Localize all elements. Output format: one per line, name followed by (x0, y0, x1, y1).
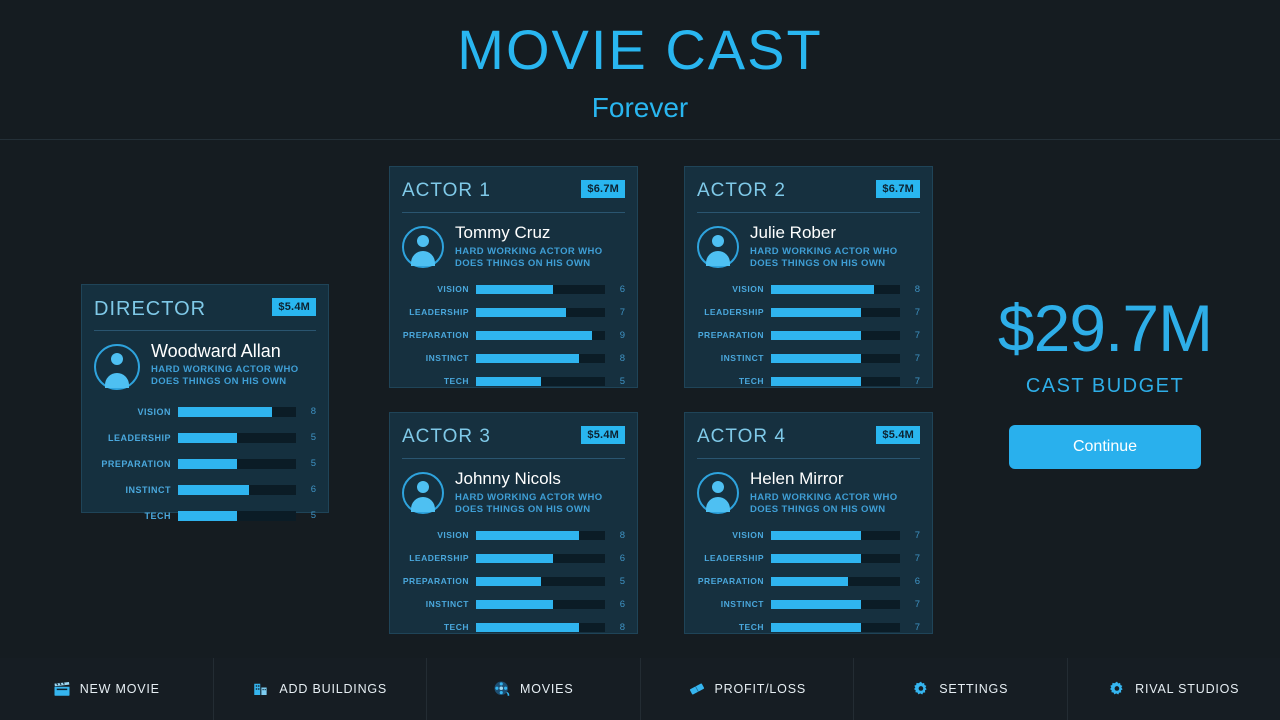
stat-label: PREPARATION (402, 576, 476, 586)
price-badge: $6.7M (581, 180, 625, 198)
stat-label: LEADERSHIP (402, 553, 476, 563)
avatar-body-shape (411, 497, 435, 512)
avatar (94, 344, 140, 390)
stat-row: TECH8 (402, 620, 625, 634)
person-name: Tommy Cruz (455, 223, 603, 243)
person-description-line1: HARD WORKING ACTOR WHO (455, 246, 603, 258)
avatar (402, 226, 444, 268)
card-header: ACTOR 4 $5.4M (697, 423, 920, 459)
stat-label: TECH (402, 622, 476, 632)
card-header: ACTOR 2 $6.7M (697, 177, 920, 213)
stat-row: TECH7 (697, 374, 920, 388)
stat-bar-fill (476, 577, 541, 586)
person-info: Woodward Allan HARD WORKING ACTOR WHO DO… (151, 341, 299, 388)
stat-row: TECH7 (697, 620, 920, 634)
stat-bar-fill (771, 308, 861, 317)
person-name: Johnny Nicols (455, 469, 603, 489)
stat-bar-track (476, 308, 605, 317)
continue-button[interactable]: Continue (1009, 425, 1201, 469)
stat-row: TECH5 (402, 374, 625, 388)
stat-label: PREPARATION (697, 576, 771, 586)
stat-bar-fill (178, 511, 237, 521)
avatar-body-shape (706, 497, 730, 512)
stats-list: VISION6LEADERSHIP7PREPARATION9INSTINCT8T… (402, 282, 625, 388)
stat-bar-fill (771, 577, 848, 586)
avatar-body-shape (706, 251, 730, 266)
stat-value: 5 (605, 376, 625, 387)
stat-bar-track (476, 377, 605, 386)
person-description-line2: DOES THINGS ON HIS OWN (455, 504, 603, 516)
stat-value: 7 (900, 330, 920, 341)
card-header: DIRECTOR $5.4M (94, 295, 316, 331)
stat-row: VISION8 (697, 282, 920, 296)
stat-label: PREPARATION (402, 330, 476, 340)
nav-item-label: PROFIT/LOSS (715, 682, 806, 696)
card-header: ACTOR 1 $6.7M (402, 177, 625, 213)
person-name: Helen Mirror (750, 469, 898, 489)
stat-bar-track (476, 285, 605, 294)
stat-label: INSTINCT (402, 599, 476, 609)
clapperboard-icon (53, 680, 71, 698)
stat-row: LEADERSHIP7 (402, 305, 625, 319)
stat-row: LEADERSHIP6 (402, 551, 625, 565)
stat-bar-track (771, 554, 900, 563)
actor-card-2[interactable]: ACTOR 2 $6.7M Julie Rober HARD WORKING A… (684, 166, 933, 388)
movie-cast-screen: MOVIE CAST Forever DIRECTOR $5.4M Woodwa… (0, 0, 1280, 720)
stat-label: LEADERSHIP (94, 433, 178, 443)
stat-label: TECH (697, 376, 771, 386)
stat-label: INSTINCT (697, 599, 771, 609)
stat-label: LEADERSHIP (402, 307, 476, 317)
film-reel-icon (493, 680, 511, 698)
nav-item-label: NEW MOVIE (80, 682, 160, 696)
stat-bar-fill (771, 285, 874, 294)
stat-value: 6 (605, 599, 625, 610)
stat-value: 7 (900, 376, 920, 387)
nav-item-add-buildings[interactable]: ADD BUILDINGS (214, 658, 428, 720)
stats-list: VISION8LEADERSHIP5PREPARATION5INSTINCT6T… (94, 404, 316, 523)
nav-item-settings[interactable]: SETTINGS (854, 658, 1068, 720)
stat-label: TECH (94, 511, 178, 521)
stat-row: PREPARATION5 (402, 574, 625, 588)
buildings-icon (252, 680, 270, 698)
person-description-line1: HARD WORKING ACTOR WHO (750, 246, 898, 258)
stat-bar-fill (476, 554, 553, 563)
nav-item-profit-loss[interactable]: PROFIT/LOSS (641, 658, 855, 720)
avatar-body-shape (105, 373, 129, 388)
nav-item-movies[interactable]: MOVIES (427, 658, 641, 720)
stat-label: PREPARATION (94, 459, 178, 469)
avatar-head-shape (417, 235, 429, 247)
stat-row: LEADERSHIP7 (697, 551, 920, 565)
stat-bar-track (476, 331, 605, 340)
stat-row: VISION7 (697, 528, 920, 542)
stat-bar-track (476, 531, 605, 540)
stat-label: INSTINCT (697, 353, 771, 363)
person-row: Helen Mirror HARD WORKING ACTOR WHO DOES… (697, 469, 920, 516)
stat-row: INSTINCT8 (402, 351, 625, 365)
stat-label: VISION (402, 284, 476, 294)
stat-bar-fill (476, 531, 579, 540)
avatar (402, 472, 444, 514)
price-badge: $5.4M (581, 426, 625, 444)
avatar-head-shape (417, 481, 429, 493)
stat-bar-fill (178, 459, 237, 469)
page-title: MOVIE CAST (0, 22, 1280, 78)
gear-icon (912, 680, 930, 698)
person-name: Julie Rober (750, 223, 898, 243)
nav-item-label: SETTINGS (939, 682, 1008, 696)
person-description-line1: HARD WORKING ACTOR WHO (455, 492, 603, 504)
nav-item-label: RIVAL STUDIOS (1135, 682, 1239, 696)
avatar-head-shape (712, 481, 724, 493)
stat-label: VISION (94, 407, 178, 417)
stat-row: PREPARATION5 (94, 456, 316, 471)
stat-row: PREPARATION9 (402, 328, 625, 342)
stat-bar-track (476, 554, 605, 563)
avatar (697, 226, 739, 268)
stat-value: 8 (605, 353, 625, 364)
person-description-line2: DOES THINGS ON HIS OWN (455, 258, 603, 270)
stat-row: LEADERSHIP5 (94, 430, 316, 445)
stat-bar-track (771, 531, 900, 540)
stat-value: 5 (605, 576, 625, 587)
stat-label: PREPARATION (697, 330, 771, 340)
stat-value: 7 (900, 622, 920, 633)
stat-bar-track (771, 600, 900, 609)
avatar (697, 472, 739, 514)
nav-item-label: MOVIES (520, 682, 573, 696)
stat-value: 9 (605, 330, 625, 341)
avatar-head-shape (111, 353, 123, 365)
stat-row: PREPARATION6 (697, 574, 920, 588)
stat-value: 7 (900, 599, 920, 610)
bottom-navigation-bar: NEW MOVIEADD BUILDINGSMOVIESPROFIT/LOSSS… (0, 658, 1280, 720)
person-info: Johnny Nicols HARD WORKING ACTOR WHO DOE… (455, 469, 603, 516)
avatar-head-shape (712, 235, 724, 247)
person-description-line2: DOES THINGS ON HIS OWN (750, 258, 898, 270)
gear-icon (1108, 680, 1126, 698)
stat-value: 7 (900, 530, 920, 541)
person-description-line2: DOES THINGS ON HIS OWN (750, 504, 898, 516)
stat-value: 5 (296, 510, 316, 521)
price-badge: $5.4M (876, 426, 920, 444)
stat-label: VISION (697, 530, 771, 540)
stat-bar-track (476, 623, 605, 632)
stat-row: INSTINCT6 (402, 597, 625, 611)
card-header: ACTOR 3 $5.4M (402, 423, 625, 459)
stat-row: VISION8 (94, 404, 316, 419)
stat-bar-track (178, 433, 296, 443)
stat-value: 6 (605, 553, 625, 564)
page-subtitle: Forever (0, 92, 1280, 124)
stat-bar-track (178, 459, 296, 469)
stat-value: 6 (605, 284, 625, 295)
nav-item-rival-studios[interactable]: RIVAL STUDIOS (1068, 658, 1280, 720)
stat-bar-fill (476, 285, 553, 294)
nav-item-label: ADD BUILDINGS (279, 682, 387, 696)
stat-bar-fill (476, 623, 579, 632)
stat-bar-track (771, 331, 900, 340)
person-name: Woodward Allan (151, 341, 299, 361)
stat-bar-fill (476, 331, 592, 340)
stat-bar-fill (476, 377, 541, 386)
stat-bar-track (771, 354, 900, 363)
stat-value: 7 (900, 307, 920, 318)
person-description-line1: HARD WORKING ACTOR WHO (750, 492, 898, 504)
stat-value: 8 (900, 284, 920, 295)
stat-label: TECH (697, 622, 771, 632)
stat-bar-track (771, 285, 900, 294)
person-info: Julie Rober HARD WORKING ACTOR WHO DOES … (750, 223, 898, 270)
stat-label: INSTINCT (94, 485, 178, 495)
stat-value: 8 (605, 530, 625, 541)
stat-row: LEADERSHIP7 (697, 305, 920, 319)
person-description-line2: DOES THINGS ON HIS OWN (151, 376, 299, 388)
stat-row: VISION8 (402, 528, 625, 542)
stat-value: 7 (900, 553, 920, 564)
stat-row: INSTINCT6 (94, 482, 316, 497)
avatar-body-shape (411, 251, 435, 266)
stat-bar-fill (771, 531, 861, 540)
stat-bar-fill (178, 407, 272, 417)
stat-label: VISION (697, 284, 771, 294)
stat-bar-track (771, 377, 900, 386)
stat-bar-fill (476, 308, 566, 317)
stat-bar-track (476, 600, 605, 609)
stat-bar-track (771, 577, 900, 586)
stat-row: INSTINCT7 (697, 597, 920, 611)
stat-row: PREPARATION7 (697, 328, 920, 342)
stat-label: INSTINCT (402, 353, 476, 363)
stat-bar-fill (771, 623, 861, 632)
stat-value: 5 (296, 458, 316, 469)
stat-row: VISION6 (402, 282, 625, 296)
budget-amount: $29.7M (950, 295, 1260, 361)
stat-label: LEADERSHIP (697, 553, 771, 563)
person-row: Julie Rober HARD WORKING ACTOR WHO DOES … (697, 223, 920, 270)
stat-label: TECH (402, 376, 476, 386)
stat-bar-fill (476, 354, 579, 363)
stat-bar-fill (178, 433, 237, 443)
stat-label: LEADERSHIP (697, 307, 771, 317)
person-description-line1: HARD WORKING ACTOR WHO (151, 364, 299, 376)
stat-bar-fill (771, 354, 861, 363)
person-row: Tommy Cruz HARD WORKING ACTOR WHO DOES T… (402, 223, 625, 270)
actor-card-1[interactable]: ACTOR 1 $6.7M Tommy Cruz HARD WORKING AC… (389, 166, 638, 388)
actor-card-4[interactable]: ACTOR 4 $5.4M Helen Mirror HARD WORKING … (684, 412, 933, 634)
stat-bar-track (771, 308, 900, 317)
cast-budget-panel: $29.7M CAST BUDGET Continue (950, 295, 1260, 469)
stat-label: VISION (402, 530, 476, 540)
budget-label: CAST BUDGET (950, 375, 1260, 398)
stat-row: TECH5 (94, 508, 316, 523)
price-badge: $5.4M (272, 298, 316, 316)
stat-bar-track (476, 577, 605, 586)
person-row: Woodward Allan HARD WORKING ACTOR WHO DO… (94, 341, 316, 390)
person-info: Helen Mirror HARD WORKING ACTOR WHO DOES… (750, 469, 898, 516)
ticket-icon (688, 680, 706, 698)
stats-list: VISION8LEADERSHIP6PREPARATION5INSTINCT6T… (402, 528, 625, 634)
stat-bar-track (476, 354, 605, 363)
stat-value: 6 (900, 576, 920, 587)
stat-bar-fill (771, 377, 861, 386)
stat-bar-fill (178, 485, 249, 495)
stat-value: 7 (900, 353, 920, 364)
person-row: Johnny Nicols HARD WORKING ACTOR WHO DOE… (402, 469, 625, 516)
person-info: Tommy Cruz HARD WORKING ACTOR WHO DOES T… (455, 223, 603, 270)
stat-value: 8 (296, 406, 316, 417)
stat-bar-fill (476, 600, 553, 609)
stat-bar-track (178, 511, 296, 521)
stat-row: INSTINCT7 (697, 351, 920, 365)
stat-bar-fill (771, 554, 861, 563)
stat-value: 6 (296, 484, 316, 495)
stat-bar-fill (771, 600, 861, 609)
stat-bar-track (178, 485, 296, 495)
stat-value: 5 (296, 432, 316, 443)
nav-item-new-movie[interactable]: NEW MOVIE (0, 658, 214, 720)
stat-bar-track (771, 623, 900, 632)
stat-bar-track (178, 407, 296, 417)
stats-list: VISION7LEADERSHIP7PREPARATION6INSTINCT7T… (697, 528, 920, 634)
stats-list: VISION8LEADERSHIP7PREPARATION7INSTINCT7T… (697, 282, 920, 388)
stat-bar-fill (771, 331, 861, 340)
actor-card-3[interactable]: ACTOR 3 $5.4M Johnny Nicols HARD WORKING… (389, 412, 638, 634)
stat-value: 8 (605, 622, 625, 633)
stat-value: 7 (605, 307, 625, 318)
page-header: MOVIE CAST Forever (0, 0, 1280, 140)
director-card[interactable]: DIRECTOR $5.4M Woodward Allan HARD WORKI… (81, 284, 329, 513)
price-badge: $6.7M (876, 180, 920, 198)
